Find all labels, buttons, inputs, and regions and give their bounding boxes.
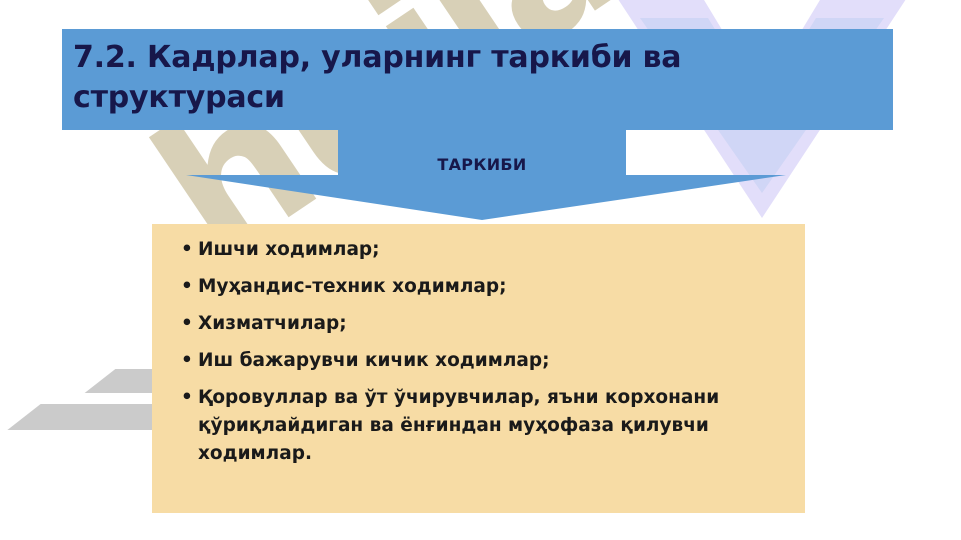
list-item-label: Муҳандис-техник ходимлар; [198, 276, 507, 297]
list-item-label: Қоровуллар ва ўт ўчирувчилар, яъни корхо… [198, 387, 719, 464]
list-item: • Хизматчилар; [168, 310, 789, 338]
arrow-label-tarkibi: ТАРКИБИ [338, 155, 626, 174]
list-item-label: Иш бажарувчи кичик ходимлар; [198, 350, 550, 371]
down-arrow-shape [186, 128, 786, 220]
bullet-marker-icon: • [181, 384, 193, 412]
bullet-marker-icon: • [181, 236, 193, 264]
list-item: •Ишчи ходимлар; [168, 236, 789, 264]
bullet-list: •Ишчи ходимлар;•Муҳандис-техник ходимлар… [168, 236, 789, 468]
bullet-marker-icon: • [181, 273, 193, 301]
content-box: •Ишчи ходимлар;•Муҳандис-техник ходимлар… [152, 224, 805, 513]
list-item: • Иш бажарувчи кичик ходимлар; [168, 347, 789, 375]
bullet-marker-icon: • [181, 347, 193, 375]
list-item: •Муҳандис-техник ходимлар; [168, 273, 789, 301]
bullet-marker-icon: • [181, 310, 193, 338]
title-bar: 7.2. Кадрлар, уларнинг таркиби ва структ… [62, 29, 893, 130]
page-title: 7.2. Кадрлар, уларнинг таркиби ва структ… [73, 38, 883, 118]
list-item: • Қоровуллар ва ўт ўчирувчилар, яъни кор… [168, 384, 789, 468]
list-item-label: Ишчи ходимлар; [198, 239, 380, 260]
slide-canvas: hujjat ТАРКИБИ 7.2. Кадрлар, уларнинг та… [0, 0, 961, 540]
list-item-label: Хизматчилар; [198, 313, 347, 334]
